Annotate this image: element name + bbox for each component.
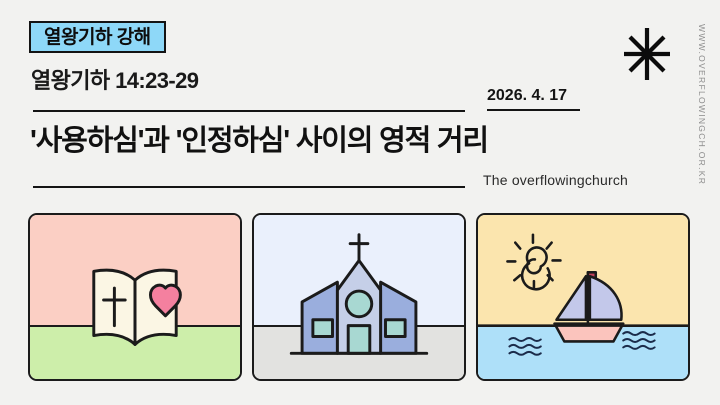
scripture-reference: 열왕기하 14:23-29 <box>31 70 198 92</box>
series-badge: 열왕기하 강해 <box>29 21 166 53</box>
page-title: '사용하심'과 '인정하심' 사이의 영적 거리 <box>30 126 488 158</box>
site-url-vertical: WWW.OVERFLOWINGCH.OR.KR <box>691 24 707 184</box>
divider-bottom <box>33 186 465 188</box>
divider-top <box>33 110 465 112</box>
sermon-date-text: 2026. 4. 17 <box>487 88 580 104</box>
illustration-card-row <box>0 205 720 405</box>
sailboat-icon <box>478 215 688 379</box>
open-bible-icon <box>30 215 240 379</box>
sermon-date: 2026. 4. 17 <box>487 88 580 111</box>
bible-illustration-card <box>28 213 242 381</box>
church-illustration-card <box>252 213 466 381</box>
sermon-date-underline <box>487 109 580 111</box>
church-building-icon <box>254 215 464 379</box>
church-name: The overflowingchurch <box>483 173 628 187</box>
asterisk-star-icon <box>621 26 673 82</box>
poster-header: 열왕기하 강해 열왕기하 14:23-29 '사용하심'과 '인정하심' 사이의… <box>0 0 720 205</box>
sailboat-illustration-card <box>476 213 690 381</box>
series-badge-label: 열왕기하 강해 <box>44 28 151 47</box>
